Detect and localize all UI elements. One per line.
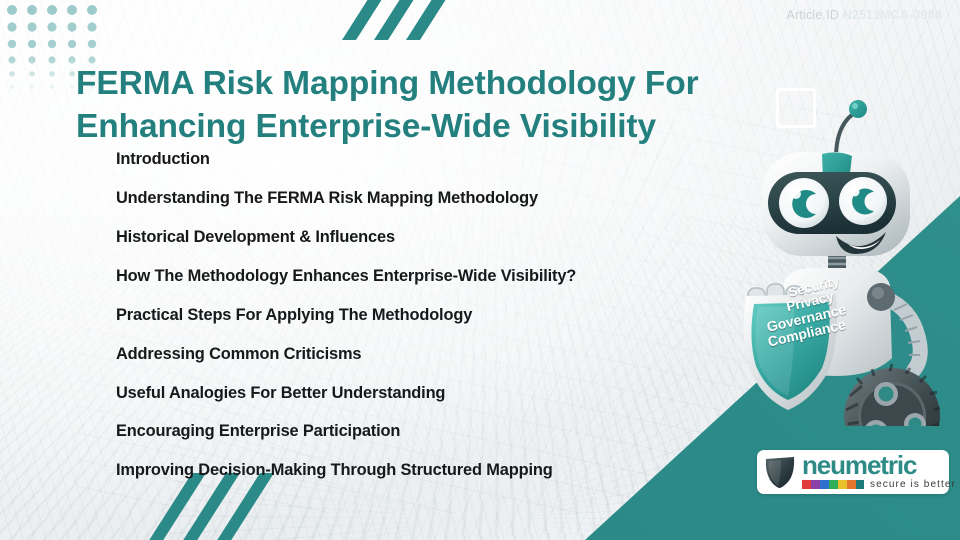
list-item[interactable]: Encouraging Enterprise Participation: [116, 412, 716, 451]
list-item[interactable]: Addressing Common Criticisms: [116, 334, 716, 373]
logo-shield-icon: [765, 455, 795, 489]
list-item[interactable]: Improving Decision-Making Through Struct…: [116, 451, 716, 490]
article-id: Article ID N2511MCA-3988: [786, 8, 942, 22]
logo-tagline: secure is better: [870, 479, 956, 490]
list-item[interactable]: Understanding The FERMA Risk Mapping Met…: [116, 179, 716, 218]
toc-item-label: Historical Development & Influences: [116, 229, 395, 245]
toc-item-label: Understanding The FERMA Risk Mapping Met…: [116, 190, 538, 206]
neumetric-logo[interactable]: neumetric secure is better: [757, 450, 949, 494]
logo-subrow: secure is better: [802, 479, 956, 490]
list-item[interactable]: Historical Development & Influences: [116, 218, 716, 257]
list-item[interactable]: Practical Steps For Applying The Methodo…: [116, 296, 716, 335]
logo-text-block: neumetric secure is better: [802, 454, 956, 491]
logo-wordmark: neumetric: [802, 454, 956, 478]
page-title-line-1: FERMA Risk Mapping Methodology For: [76, 63, 776, 106]
list-item[interactable]: Useful Analogies For Better Understandin…: [116, 373, 716, 412]
toc-item-label: Useful Analogies For Better Understandin…: [116, 385, 445, 401]
article-id-label: Article ID: [786, 8, 839, 22]
diagonal-stripes-top: [326, 0, 452, 40]
toc-item-label: Addressing Common Criticisms: [116, 346, 361, 362]
table-of-contents: Introduction Understanding The FERMA Ris…: [116, 140, 716, 490]
list-item[interactable]: How The Methodology Enhances Enterprise-…: [116, 257, 716, 296]
slide-canvas: Article ID N2511MCA-3988 FERMA Risk Mapp…: [0, 0, 960, 540]
toc-item-label: How The Methodology Enhances Enterprise-…: [116, 268, 576, 284]
logo-color-bar-icon: [802, 480, 864, 489]
toc-item-label: Introduction: [116, 151, 210, 167]
article-id-value: N2511MCA-3988: [843, 8, 942, 22]
toc-item-label: Practical Steps For Applying The Methodo…: [116, 307, 472, 323]
list-item[interactable]: Introduction: [116, 140, 716, 179]
toc-item-label: Encouraging Enterprise Participation: [116, 423, 400, 439]
page-title: FERMA Risk Mapping Methodology For Enhan…: [76, 63, 776, 149]
robot-mascot-icon: [724, 96, 960, 426]
toc-item-label: Improving Decision-Making Through Struct…: [116, 462, 553, 478]
